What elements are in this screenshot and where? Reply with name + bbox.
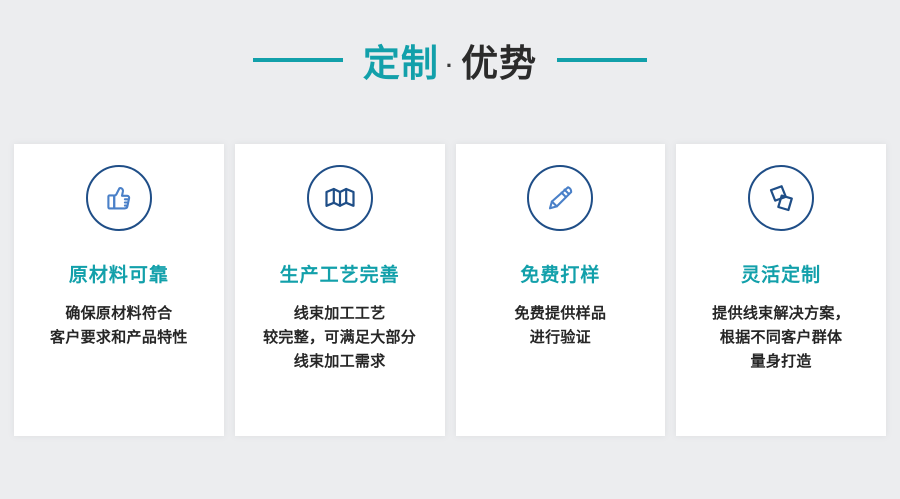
advantage-card-body-line: 量身打造 <box>681 350 881 374</box>
header-rule-right <box>557 58 647 62</box>
pencil-icon <box>542 180 578 216</box>
advantages-section: 定制 · 优势 原材料可靠 <box>0 0 900 499</box>
advantage-card[interactable]: 免费打样 免费提供样品 进行验证 <box>456 144 666 436</box>
advantage-card-title: 原材料可靠 <box>69 265 169 288</box>
section-header-inner: 定制 · 优势 <box>253 33 647 87</box>
advantage-card-body-line: 确保原材料符合 <box>19 302 219 326</box>
advantage-card-title: 免费打样 <box>520 265 600 288</box>
advantage-card-body-line: 根据不同客户群体 <box>681 326 881 350</box>
advantage-card-body-line: 进行验证 <box>460 326 660 350</box>
stacked-papers-icon <box>762 179 800 217</box>
advantage-card-body-line: 客户要求和产品特性 <box>19 326 219 350</box>
page-title-separator: · <box>439 53 461 79</box>
advantage-card-body: 线束加工工艺 较完整，可满足大部分 线束加工需求 <box>240 302 440 375</box>
page-title: 定制 · 优势 <box>363 33 537 87</box>
page-title-primary: 定制 <box>363 33 439 87</box>
advantage-card[interactable]: 原材料可靠 确保原材料符合 客户要求和产品特性 <box>14 144 224 436</box>
advantage-card[interactable]: 灵活定制 提供线束解决方案， 根据不同客户群体 量身打造 <box>676 144 886 436</box>
advantage-card-body: 提供线束解决方案， 根据不同客户群体 量身打造 <box>681 302 881 375</box>
advantage-card-body: 确保原材料符合 客户要求和产品特性 <box>19 302 219 351</box>
icon-circle <box>527 165 593 231</box>
icon-circle <box>86 165 152 231</box>
advantage-card-title: 生产工艺完善 <box>280 265 400 288</box>
header-rule-left <box>253 58 343 62</box>
icon-circle <box>748 165 814 231</box>
advantage-card-body-line: 较完整，可满足大部分 <box>240 326 440 350</box>
icon-circle <box>307 165 373 231</box>
advantage-card-body-line: 线束加工需求 <box>240 350 440 374</box>
folded-map-icon <box>321 179 359 217</box>
section-header: 定制 · 优势 <box>0 0 900 120</box>
advantage-card-body: 免费提供样品 进行验证 <box>460 302 660 351</box>
advantage-card-list: 原材料可靠 确保原材料符合 客户要求和产品特性 生产工艺完善 <box>14 144 886 436</box>
thumbs-up-icon <box>101 180 137 216</box>
advantage-card-body-line: 免费提供样品 <box>460 302 660 326</box>
advantage-card-body-line: 提供线束解决方案， <box>681 302 881 326</box>
page-title-secondary: 优势 <box>461 33 537 87</box>
advantage-card-body-line: 线束加工工艺 <box>240 302 440 326</box>
advantage-card-title: 灵活定制 <box>741 265 821 288</box>
advantage-card[interactable]: 生产工艺完善 线束加工工艺 较完整，可满足大部分 线束加工需求 <box>235 144 445 436</box>
